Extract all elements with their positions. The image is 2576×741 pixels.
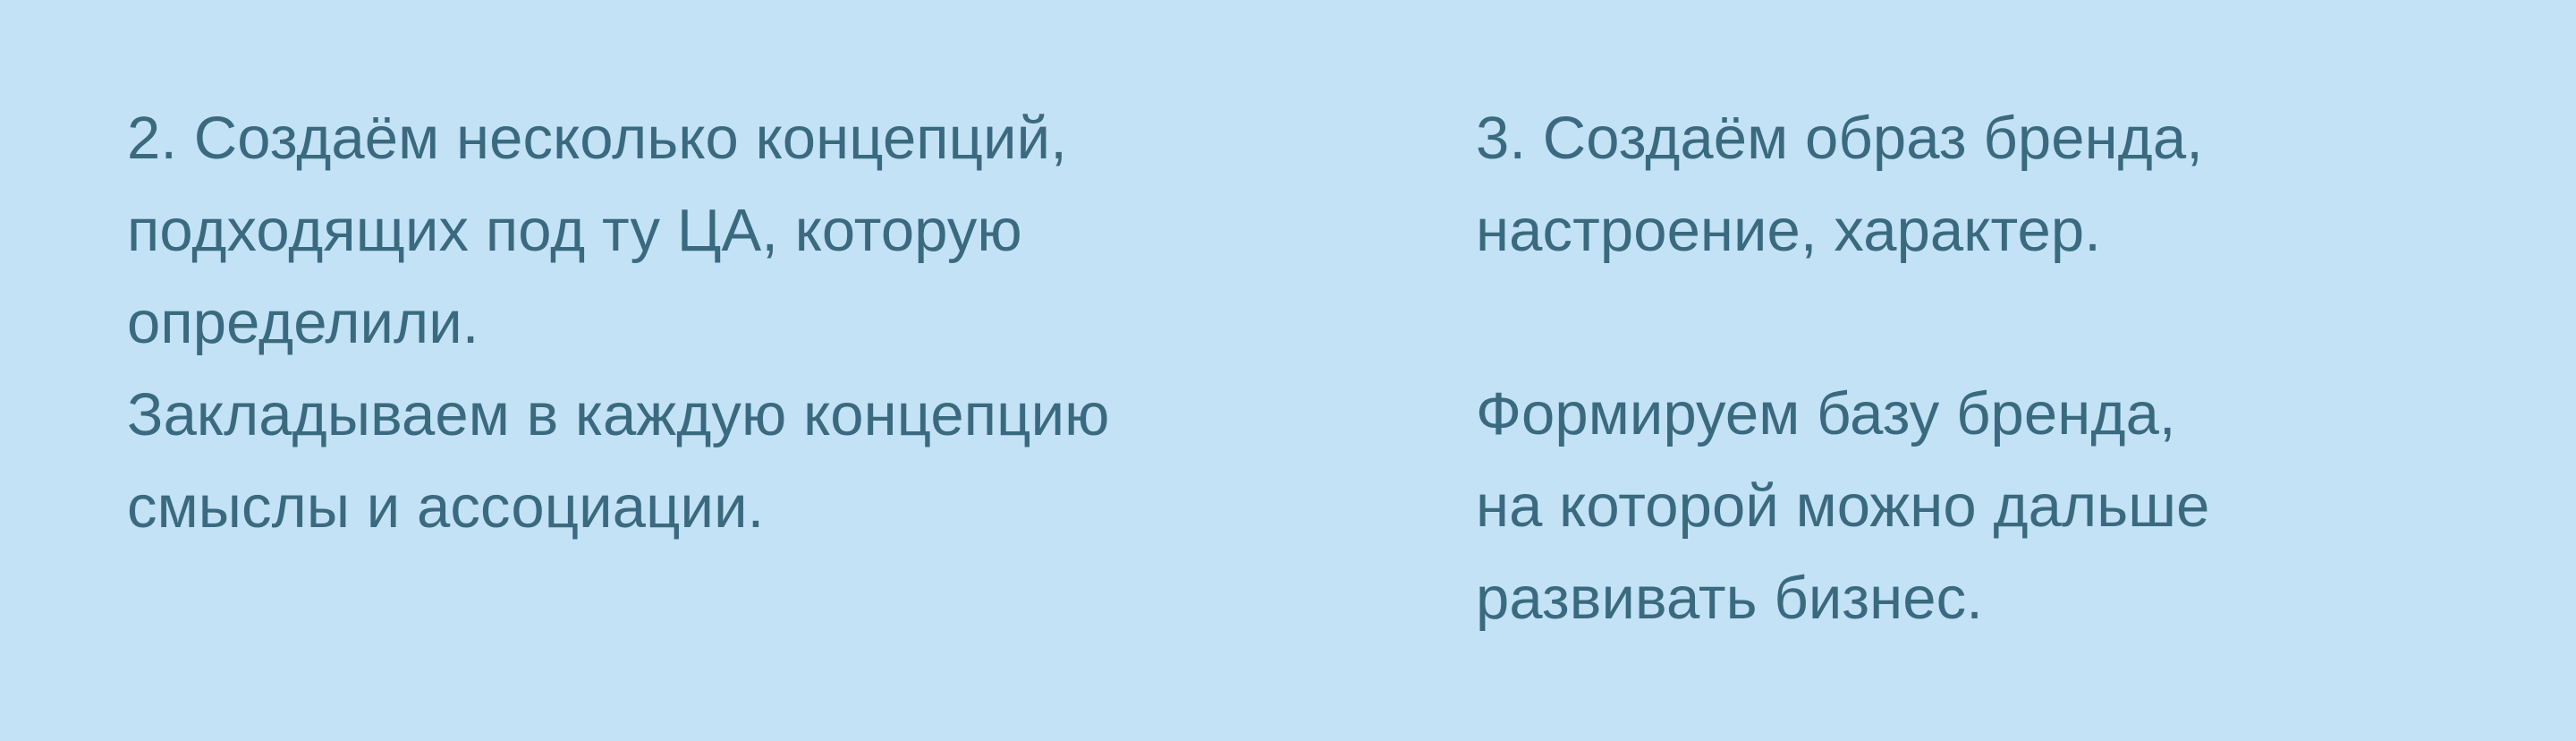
paragraph-step-3-intro: 3. Создаём образ бренда, настроение, хар… bbox=[1476, 92, 2576, 277]
column-step-2: 2. Создаём несколько концепций, подходящ… bbox=[0, 0, 1351, 553]
text-line: Закладываем в каждую концепцию bbox=[127, 369, 1351, 461]
text-line: настроение, характер. bbox=[1476, 184, 2576, 277]
text-line: подходящих под ту ЦА, которую bbox=[127, 184, 1351, 277]
slide-canvas: 2. Создаём несколько концепций, подходящ… bbox=[0, 0, 2576, 741]
text-line: смыслы и ассоциации. bbox=[127, 461, 1351, 553]
text-line: 2. Создаём несколько концепций, bbox=[127, 92, 1351, 184]
column-step-3: 3. Создаём образ бренда, настроение, хар… bbox=[1351, 0, 2576, 644]
text-line: определили. bbox=[127, 277, 1351, 369]
text-line: на которой можно дальше bbox=[1476, 460, 2576, 552]
slide-columns: 2. Создаём несколько концепций, подходящ… bbox=[0, 0, 2576, 741]
paragraph-step-2-intro: 2. Создаём несколько концепций, подходящ… bbox=[127, 92, 1351, 369]
text-line: развивать бизнес. bbox=[1476, 552, 2576, 644]
text-line: 3. Создаём образ бренда, bbox=[1476, 92, 2576, 184]
paragraph-step-3-detail: Формируем базу бренда, на которой можно … bbox=[1476, 368, 2576, 644]
text-line: Формируем базу бренда, bbox=[1476, 368, 2576, 460]
paragraph-step-2-detail: Закладываем в каждую концепцию смыслы и … bbox=[127, 369, 1351, 553]
